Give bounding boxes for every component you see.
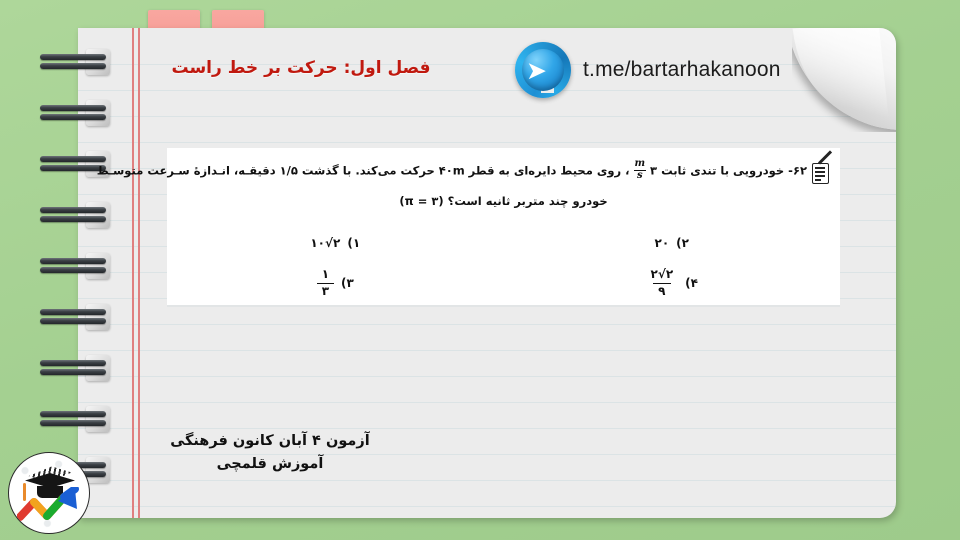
spiral-ring-wire: [40, 318, 106, 324]
telegram-icon: ➤: [515, 42, 571, 98]
spiral-ring-wire: [40, 411, 106, 417]
notepad-pencil-icon: [812, 162, 834, 186]
growth-arrow-icon: [17, 487, 85, 529]
spiral-binding-ring: [36, 303, 110, 331]
spiral-binding-ring: [36, 405, 110, 433]
notepad-line: [815, 175, 825, 177]
card-bottom-edge: [167, 305, 840, 307]
telegram-paper-plane-icon: ➤: [526, 59, 560, 83]
option-3-numerator: ۱: [317, 268, 334, 282]
exam-credit: آزمون ۴ آبان کانون فرهنگی آموزش قلمچی: [150, 430, 390, 476]
option-3-denominator: ۳: [317, 283, 334, 298]
option-2[interactable]: ۲) ۲۰: [504, 226, 841, 260]
spiral-ring-wire: [40, 360, 106, 366]
spiral-ring-wire: [40, 258, 106, 264]
option-2-number: ۲): [676, 236, 689, 250]
question-number: ۶۲-: [788, 164, 807, 178]
spiral-ring-wire: [40, 420, 106, 426]
page-title: فصل اول: حرکت بر خط راست: [156, 58, 446, 78]
speed-unit-numerator: m: [632, 159, 648, 170]
option-4-numerator: ۲√۲: [646, 268, 679, 282]
question-line-2: خودرو چند متربر ثانیه است؟ (π = ۳): [167, 194, 840, 208]
question-text-part-b: ، روی محیط دایره‌ای به قطر: [469, 164, 630, 178]
option-4-value: ۲√۲ ۹: [646, 268, 679, 298]
exam-credit-line-1: آزمون ۴ آبان کانون فرهنگی: [150, 430, 390, 453]
margin-rule-left: [132, 28, 134, 518]
answer-options: ۲) ۲۰ ۱) ۱۰√۲ ۴) ۲√۲ ۹ ۳) ۱ ۳: [167, 226, 840, 300]
option-3[interactable]: ۳) ۱ ۳: [167, 266, 504, 300]
option-4-denominator: ۹: [653, 283, 670, 298]
spiral-ring-wire: [40, 216, 106, 222]
spiral-ring-plate: [86, 406, 110, 432]
spiral-ring-plate: [86, 253, 110, 279]
spiral-ring-plate: [86, 202, 110, 228]
question-text: ۶۲- خودرویی با تندی ثابت ۳ms، روی محیط د…: [97, 160, 807, 182]
channel-logo[interactable]: [8, 452, 90, 534]
option-4[interactable]: ۴) ۲√۲ ۹: [504, 266, 841, 300]
option-3-value: ۱ ۳: [317, 268, 334, 298]
option-3-number: ۳): [341, 276, 354, 290]
speed-unit-denominator: s: [634, 170, 646, 182]
spiral-ring-plate: [86, 100, 110, 126]
spiral-binding-ring: [36, 252, 110, 280]
notepad-line: [815, 167, 825, 169]
spiral-ring-plate: [86, 49, 110, 75]
question-text-part-c: حرکت می‌کند. با گذشت ۱/۵ دقیقـه، انـدازۀ…: [97, 164, 435, 178]
spiral-ring-wire: [40, 105, 106, 111]
option-2-value: ۲۰: [655, 236, 670, 250]
spiral-binding-ring: [36, 354, 110, 382]
telegram-watermark[interactable]: ➤ t.me/bartarhakanoon: [515, 42, 781, 98]
option-4-number: ۴): [685, 276, 698, 290]
diameter-value: ۴۰m: [439, 164, 465, 178]
exam-credit-line-2: آموزش قلمچی: [150, 453, 390, 476]
spiral-ring-wire: [40, 369, 106, 375]
spiral-ring-wire: [40, 114, 106, 120]
question-line-1: ۶۲- خودرویی با تندی ثابت ۳ms، روی محیط د…: [181, 160, 834, 186]
spiral-ring-wire: [40, 309, 106, 315]
spiral-ring-plate: [86, 355, 110, 381]
notepad-line: [815, 179, 821, 181]
option-1-number: ۱): [347, 236, 360, 250]
telegram-handle-text: t.me/bartarhakanoon: [583, 58, 781, 82]
logo-circle-border: [8, 452, 90, 534]
question-text-part-a: خودرویی با تندی ثابت: [661, 164, 784, 178]
spiral-ring-wire: [40, 267, 106, 273]
spiral-ring-wire: [40, 207, 106, 213]
option-1[interactable]: ۱) ۱۰√۲: [167, 226, 504, 260]
spiral-ring-wire: [40, 63, 106, 69]
question-card: ۶۲- خودرویی با تندی ثابت ۳ms، روی محیط د…: [167, 148, 840, 306]
spiral-binding-ring: [36, 48, 110, 76]
margin-rule-right: [138, 28, 140, 518]
speed-unit-fraction: ms: [632, 159, 648, 181]
spiral-ring-plate: [86, 304, 110, 330]
notepad-line: [815, 171, 825, 173]
option-1-value: ۱۰√۲: [310, 236, 340, 250]
spiral-ring-wire: [40, 54, 106, 60]
spiral-binding-ring: [36, 99, 110, 127]
speed-coefficient: ۳: [650, 164, 657, 178]
spiral-binding-ring: [36, 201, 110, 229]
